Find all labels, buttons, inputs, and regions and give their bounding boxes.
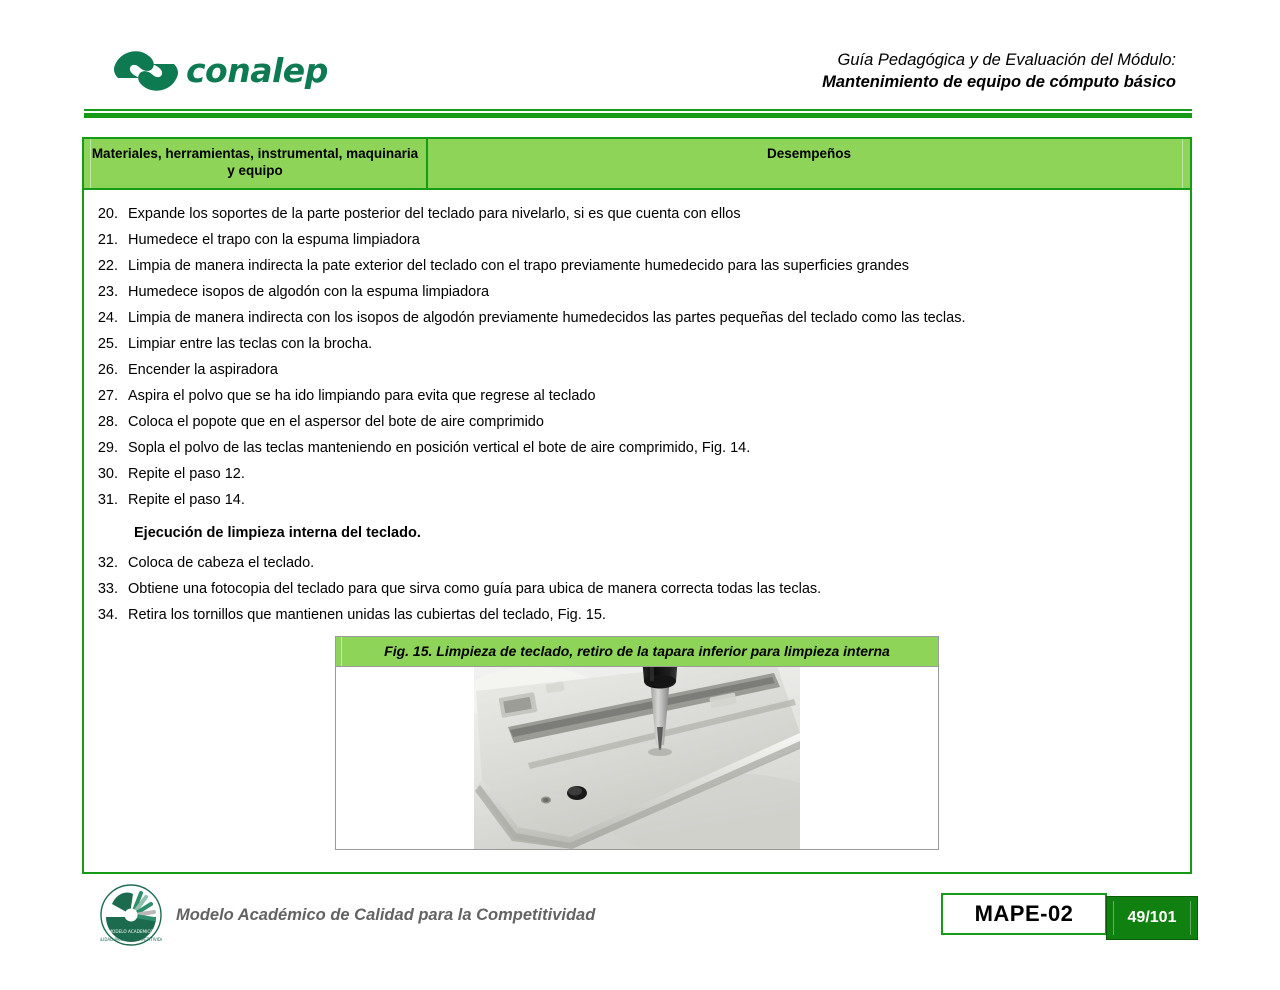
conalep-swirl-icon — [112, 48, 180, 94]
list-item: 33. Obtiene una fotocopia del teclado pa… — [96, 579, 1178, 600]
list-item: 20. Expande los soportes de la parte pos… — [96, 204, 1178, 225]
column-header-materiales: Materiales, herramientas, instrumental, … — [84, 139, 428, 188]
list-item: 21. Humedece el trapo con la espuma limp… — [96, 230, 1178, 251]
document-title-line1: Guía Pedagógica y de Evaluación del Módu… — [822, 50, 1176, 72]
step-number: 22. — [96, 256, 128, 277]
step-number: 26. — [96, 360, 128, 381]
list-item: 23. Humedece isopos de algodón con la es… — [96, 282, 1178, 303]
step-number: 32. — [96, 553, 128, 574]
figure-image-area — [336, 667, 938, 849]
step-text: Obtiene una fotocopia del teclado para q… — [128, 579, 1178, 600]
step-text: Aspira el polvo que se ha ido limpiando … — [128, 386, 1178, 407]
step-text: Retira los tornillos que mantienen unida… — [128, 605, 1178, 626]
keyboard-underside-photo — [474, 667, 800, 849]
step-text: Expande los soportes de la parte posteri… — [128, 204, 1178, 225]
page-number-badge: 49/101 — [1106, 896, 1198, 940]
step-list-part2: 32. Coloca de cabeza el teclado. 33. Obt… — [96, 553, 1178, 626]
macc-logo: MODELO ACADEMICO CALIDAD PARA LA COMPETI… — [100, 884, 595, 946]
step-list-part1: 20. Expande los soportes de la parte pos… — [96, 204, 1178, 511]
table-body: 20. Expande los soportes de la parte pos… — [84, 190, 1190, 872]
list-item: 27. Aspira el polvo que se ha ido limpia… — [96, 386, 1178, 407]
section-subheading: Ejecución de limpieza interna del teclad… — [134, 525, 1178, 541]
figure-caption: Fig. 15. Limpieza de teclado, retiro de … — [336, 637, 938, 667]
macc-label: Modelo Académico de Calidad para la Comp… — [176, 906, 595, 925]
step-number: 24. — [96, 308, 128, 329]
macc-seal-icon: MODELO ACADEMICO CALIDAD PARA LA COMPETI… — [100, 884, 162, 946]
step-text: Limpiar entre las teclas con la brocha. — [128, 334, 1178, 355]
document-code-block: MAPE-02 49/101 — [941, 893, 1198, 935]
step-text: Limpia de manera indirecta con los isopo… — [128, 308, 1178, 329]
list-item: 29. Sopla el polvo de las teclas manteni… — [96, 438, 1178, 459]
step-text: Repite el paso 12. — [128, 464, 1178, 485]
step-number: 23. — [96, 282, 128, 303]
document-title-line2: Mantenimiento de equipo de cómputo básic… — [822, 72, 1176, 94]
svg-text:CALIDAD PARA LA COMPETITIVIDAD: CALIDAD PARA LA COMPETITIVIDAD — [100, 937, 162, 942]
document-code: MAPE-02 — [941, 893, 1107, 935]
page-footer: MODELO ACADEMICO CALIDAD PARA LA COMPETI… — [0, 868, 1280, 990]
list-item: 25. Limpiar entre las teclas con la broc… — [96, 334, 1178, 355]
step-number: 28. — [96, 412, 128, 433]
step-text: Limpia de manera indirecta la pate exter… — [128, 256, 1178, 277]
step-number: 30. — [96, 464, 128, 485]
conalep-wordmark: conalep — [186, 54, 328, 89]
step-number: 20. — [96, 204, 128, 225]
svg-text:MODELO ACADEMICO: MODELO ACADEMICO — [108, 929, 154, 934]
list-item: 26. Encender la aspiradora — [96, 360, 1178, 381]
list-item: 28. Coloca el popote que en el aspersor … — [96, 412, 1178, 433]
step-text: Sopla el polvo de las teclas manteniendo… — [128, 438, 1178, 459]
header-rule-top — [84, 109, 1192, 111]
step-number: 21. — [96, 230, 128, 251]
conalep-logo: conalep — [112, 48, 328, 94]
step-text: Coloca el popote que en el aspersor del … — [128, 412, 1178, 433]
step-text: Encender la aspiradora — [128, 360, 1178, 381]
step-text: Repite el paso 14. — [128, 490, 1178, 511]
header-rule-bottom — [84, 113, 1192, 118]
step-number: 31. — [96, 490, 128, 511]
list-item: 30. Repite el paso 12. — [96, 464, 1178, 485]
list-item: 22. Limpia de manera indirecta la pate e… — [96, 256, 1178, 277]
step-text: Coloca de cabeza el teclado. — [128, 553, 1178, 574]
step-number: 34. — [96, 605, 128, 626]
step-text: Humedece isopos de algodón con la espuma… — [128, 282, 1178, 303]
step-text: Humedece el trapo con la espuma limpiado… — [128, 230, 1178, 251]
list-item: 24. Limpia de manera indirecta con los i… — [96, 308, 1178, 329]
table-header-row: Materiales, herramientas, instrumental, … — [84, 139, 1190, 190]
list-item: 31. Repite el paso 14. — [96, 490, 1178, 511]
step-number: 29. — [96, 438, 128, 459]
list-item: 34. Retira los tornillos que mantienen u… — [96, 605, 1178, 626]
step-number: 25. — [96, 334, 128, 355]
column-header-desempenos: Desempeños — [428, 139, 1190, 188]
page-header: conalep Guía Pedagógica y de Evaluación … — [0, 0, 1280, 122]
document-title: Guía Pedagógica y de Evaluación del Módu… — [822, 50, 1176, 94]
list-item: 32. Coloca de cabeza el teclado. — [96, 553, 1178, 574]
step-number: 33. — [96, 579, 128, 600]
content-table: Materiales, herramientas, instrumental, … — [82, 137, 1192, 874]
figure-15: Fig. 15. Limpieza de teclado, retiro de … — [335, 636, 939, 850]
step-number: 27. — [96, 386, 128, 407]
